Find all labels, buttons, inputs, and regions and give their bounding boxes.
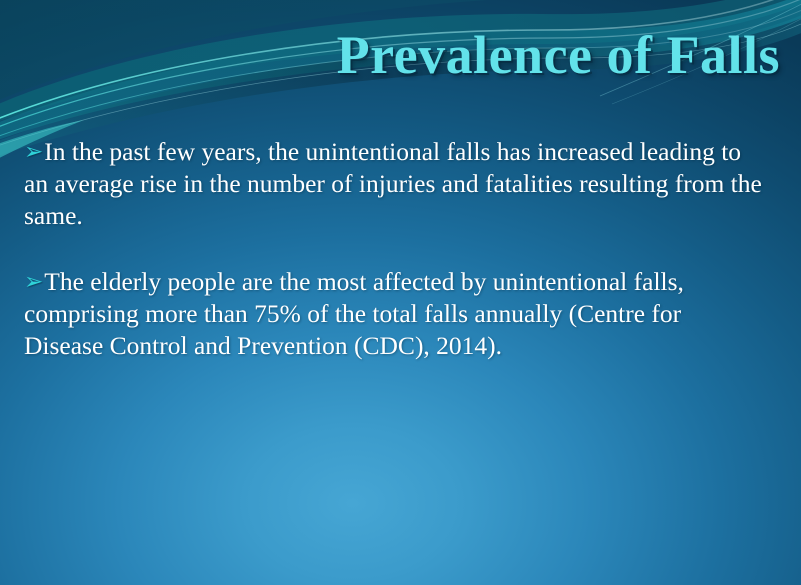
- arrow-bullet-icon: ➢: [24, 270, 43, 293]
- slide-canvas: Prevalence of Falls ➢In the past few yea…: [0, 0, 801, 585]
- paragraph-2-text: The elderly people are the most affected…: [24, 267, 684, 360]
- bullet-paragraph-2: ➢The elderly people are the most affecte…: [24, 266, 764, 362]
- slide-body: ➢In the past few years, the unintentiona…: [24, 136, 764, 362]
- arrow-bullet-icon: ➢: [24, 140, 43, 163]
- bullet-paragraph-1: ➢In the past few years, the unintentiona…: [24, 136, 764, 232]
- paragraph-1-text: In the past few years, the unintentional…: [24, 137, 762, 230]
- page-title: Prevalence of Falls: [250, 27, 780, 84]
